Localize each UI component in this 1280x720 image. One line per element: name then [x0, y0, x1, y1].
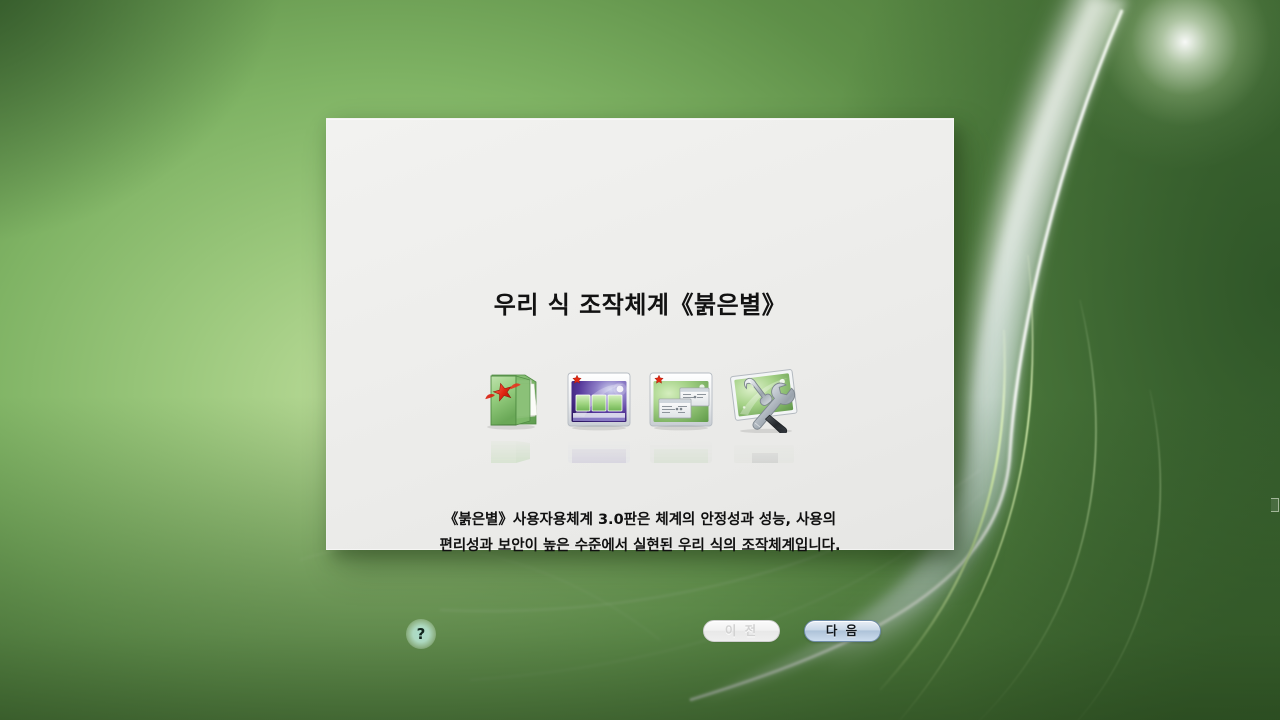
- icon-slot-folder: [478, 367, 556, 465]
- back-button: 이 전: [703, 620, 780, 642]
- dialog-description: 《붉은별》사용자용체계 3.0판은 체계의 안정성과 성능, 사용의 편리성과 …: [383, 507, 897, 559]
- green-desktop-windows-icon: [642, 367, 720, 433]
- desktop-wallpaper: 우리 식 조작체계《붉은별》: [0, 0, 1280, 720]
- icon-slot-green-desktop: [642, 367, 720, 465]
- description-line-1: 《붉은별》사용자용체계 3.0판은 체계의 안정성과 성능, 사용의: [383, 507, 897, 533]
- help-button[interactable]: ?: [406, 619, 436, 649]
- folder-with-red-star-icon: [478, 367, 556, 433]
- tools-icon-reflection: [724, 433, 802, 463]
- dialog-footer: ? 이 전 다 음: [327, 617, 953, 659]
- purple-window-icon-reflection: [560, 433, 638, 463]
- folder-icon-reflection: [478, 433, 556, 463]
- welcome-dialog: 우리 식 조작체계《붉은별》: [326, 118, 954, 550]
- description-line-2: 편리성과 보안이 높은 수준에서 실현된 우리 식의 조작체계입니다.: [383, 533, 897, 559]
- icon-slot-tools: [724, 367, 802, 465]
- next-button[interactable]: 다 음: [804, 620, 881, 642]
- feature-icon-strip: [327, 367, 953, 467]
- monitor-tools-settings-icon: [724, 367, 802, 433]
- page-title: 우리 식 조작체계《붉은별》: [327, 285, 953, 320]
- icon-slot-purple-window: [560, 367, 638, 465]
- purple-window-panes-icon: [560, 367, 638, 433]
- green-desktop-icon-reflection: [642, 433, 720, 463]
- screen-edge-cursor-artifact: [1271, 498, 1279, 512]
